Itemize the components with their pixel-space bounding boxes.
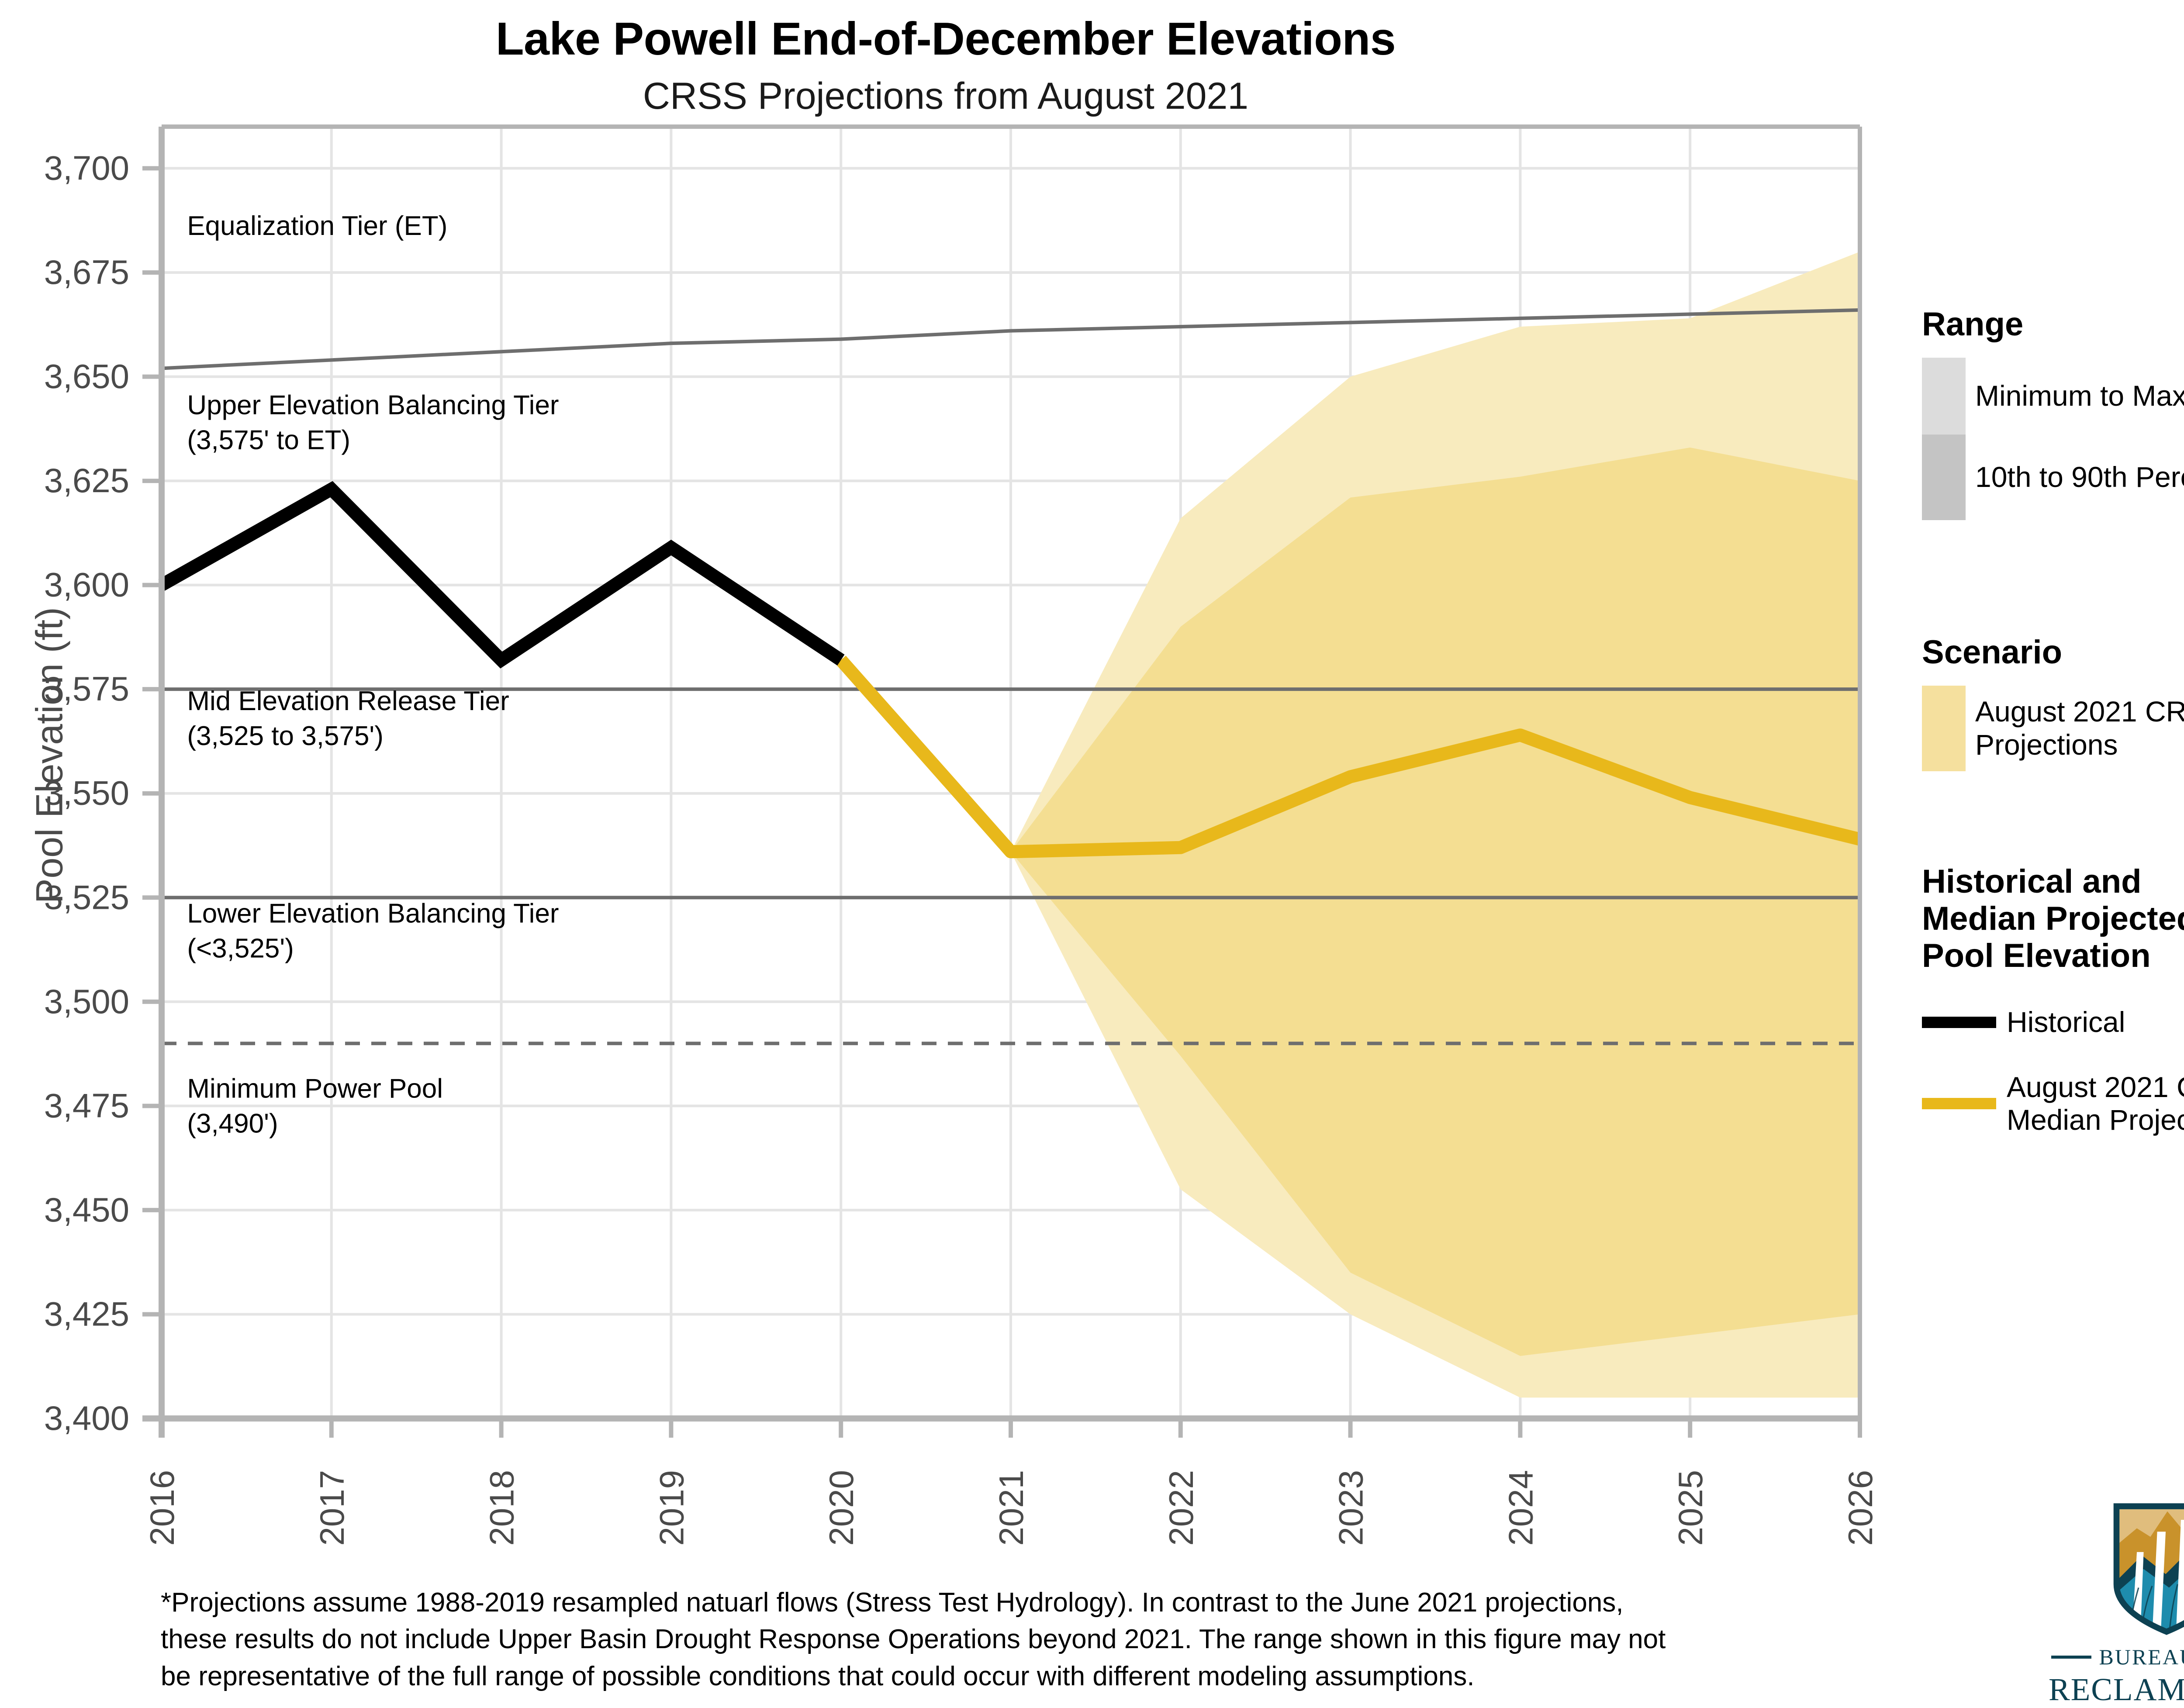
logo-rule-left [2051,1656,2091,1659]
legend-item-median-projected-line[interactable]: August 2021 CRSS Median Projected [1922,1071,2184,1137]
logo-bureau-of-label: BUREAU OF [2099,1644,2184,1670]
y-tick-label-3650: 3,650 [44,357,129,396]
y-tick-label-3475: 3,475 [44,1086,129,1125]
x-tick-label-2016: 2016 [143,1470,181,1546]
line-swatch-median-projected [1922,1098,1996,1109]
svg-text:(3,525 to 3,575'): (3,525 to 3,575') [187,721,384,751]
legend-heading-scenario: Scenario [1922,634,2184,671]
legend-group-historical: Historical and Median Projected Pool Ele… [1922,863,2184,1137]
x-tick-label-2025: 2025 [1671,1470,1710,1546]
logo-reclamation-label: RECLAMATION [2049,1671,2184,1708]
x-tick-label-2018: 2018 [483,1470,521,1546]
x-tick-label-2019: 2019 [652,1470,691,1546]
legend-item-10th-to-90th-percentile[interactable]: 10th to 90th Percentile [1922,435,2184,520]
logo-text-top-row: BUREAU OF [2049,1644,2184,1670]
legend-heading-historical: Historical and Median Projected Pool Ele… [1922,863,2184,974]
svg-text:Mid Elevation Release Tier: Mid Elevation Release Tier [187,686,509,716]
svg-text:(3,575' to ET): (3,575' to ET) [187,425,350,455]
x-tick-label-2017: 2017 [313,1470,351,1546]
svg-text:Minimum Power Pool: Minimum Power Pool [187,1073,443,1104]
x-tick-label-2023: 2023 [1332,1470,1370,1546]
legend-group-range: Range Minimum to Maximum 10th to 90th Pe… [1922,306,2184,520]
legend-label-historical: Historical [2007,1006,2125,1039]
footnote-line-1: *Projections assume 1988-2019 resampled … [161,1584,1864,1621]
legend-group-scenario: Scenario August 2021 CRSS Projections [1922,634,2184,771]
svg-text:Equalization Tier (ET): Equalization Tier (ET) [187,211,447,241]
y-tick-label-3500: 3,500 [44,982,129,1021]
page-subtitle: CRSS Projections from August 2021 [0,76,1891,116]
x-tick-label-2026: 2026 [1841,1470,1880,1546]
y-tick-label-3450: 3,450 [44,1190,129,1229]
legend-label-line-2: Median Projected [2007,1104,2184,1137]
title-block: Lake Powell End-of-December Elevations C… [0,15,1891,116]
y-tick-label-3625: 3,625 [44,461,129,500]
svg-text:(3,490'): (3,490') [187,1108,278,1139]
page-title: Lake Powell End-of-December Elevations [0,15,1891,63]
legend-item-historical-line[interactable]: Historical [1922,990,2184,1055]
x-tick-label-2021: 2021 [992,1470,1030,1546]
legend-label-minimum-to-maximum: Minimum to Maximum [1975,380,2184,413]
reclamation-shield-icon [2101,1493,2184,1637]
y-tick-label-3700: 3,700 [44,148,129,187]
y-tick-label-3675: 3,675 [44,253,129,291]
chart-area: Equalization Tier (ET)Upper Elevation Ba… [0,0,1922,1555]
svg-text:(<3,525'): (<3,525') [187,934,294,964]
footnote-line-2: these results do not include Upper Basin… [161,1621,1864,1658]
legend-heading-line-2: Median Projected [1922,900,2184,937]
swatch-10th-to-90th-percentile [1922,435,1966,520]
agency-logo: BUREAU OF RECLAMATION [2049,1493,2184,1708]
y-tick-label-3400: 3,400 [44,1399,129,1437]
legend-label-line-1: August 2021 CRSS [2007,1071,2184,1104]
legend-heading-range: Range [1922,306,2184,343]
y-axis-title: Pool Elevation (ft) [28,603,72,908]
annotation-equalization-tier: Equalization Tier (ET) [187,211,447,241]
legend-label-august-2021-crss-projections: August 2021 CRSS Projections [1975,695,2184,762]
x-tick-label-2022: 2022 [1162,1470,1200,1546]
legend-heading-line-1: Historical and [1922,863,2184,900]
svg-text:Upper Elevation Balancing Tier: Upper Elevation Balancing Tier [187,390,559,420]
legend-label-line-2: Projections [1975,728,2184,762]
y-tick-label-3600: 3,600 [44,566,129,604]
legend-panel: Range Minimum to Maximum 10th to 90th Pe… [1922,306,2184,1137]
legend-item-minimum-to-maximum[interactable]: Minimum to Maximum [1922,358,2184,435]
legend-label-line-1: August 2021 CRSS [1975,695,2184,728]
legend-item-august-2021-crss-projections[interactable]: August 2021 CRSS Projections [1922,686,2184,771]
y-tick-label-3425: 3,425 [44,1294,129,1333]
x-tick-label-2024: 2024 [1501,1470,1540,1546]
legend-heading-line-3: Pool Elevation [1922,937,2184,974]
elevation-chart: Equalization Tier (ET)Upper Elevation Ba… [0,0,1922,1555]
footnote-line-3: be representative of the full range of p… [161,1658,1864,1695]
legend-label-median-projected: August 2021 CRSS Median Projected [2007,1071,2184,1137]
line-swatch-historical [1922,1017,1996,1028]
swatch-august-2021-crss-projections [1922,686,1966,771]
legend-label-10th-to-90th-percentile: 10th to 90th Percentile [1975,461,2184,494]
footnote: *Projections assume 1988-2019 resampled … [161,1584,1864,1695]
svg-text:Lower Elevation Balancing Tier: Lower Elevation Balancing Tier [187,899,559,929]
swatch-minimum-to-maximum [1922,358,1966,435]
x-tick-label-2020: 2020 [822,1470,860,1546]
